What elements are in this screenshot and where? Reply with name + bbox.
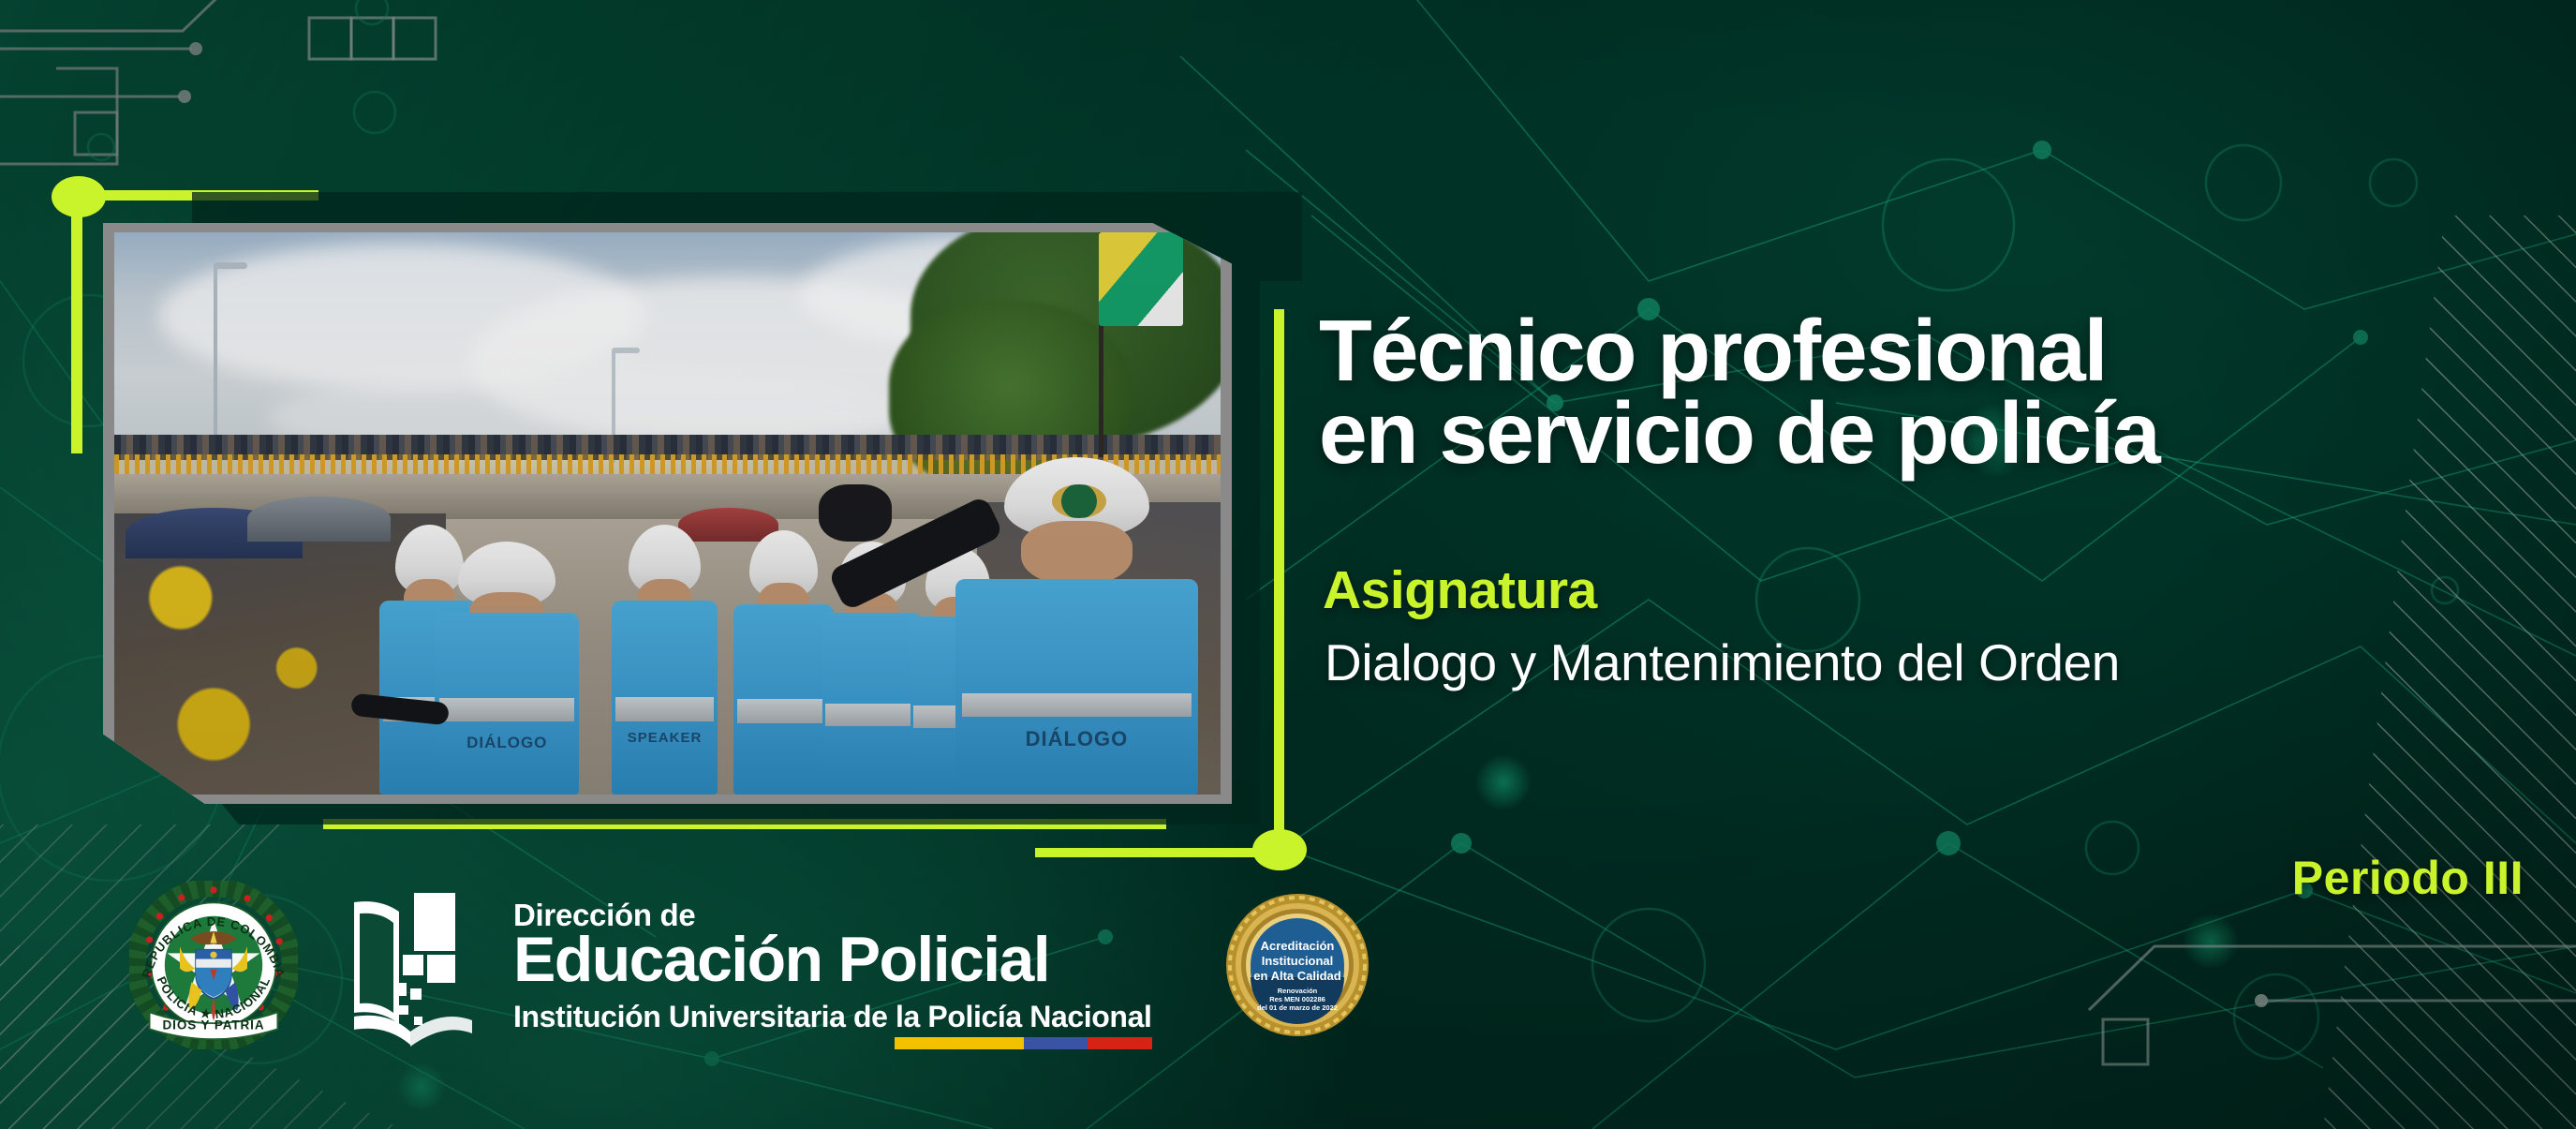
open-book-icon [347, 885, 496, 1049]
crest-ribbon-text: DIOS Y PATRIA [163, 1018, 265, 1032]
flag-stripe-blue [1024, 1037, 1088, 1049]
photo-shading [114, 232, 1221, 795]
page-title: Técnico profesional en servicio de polic… [1319, 309, 2537, 475]
asignatura-label: Asignatura [1323, 559, 1597, 621]
course-photo-image: SPEAKER [114, 232, 1221, 795]
flag-stripe-red [1088, 1037, 1152, 1049]
seal-line-1: Acreditación [1261, 939, 1335, 953]
title-line-1: Técnico profesional [1319, 309, 2537, 392]
course-photo: SPEAKER [103, 223, 1232, 804]
title-line-2: en servicio de policía [1319, 392, 2537, 474]
seal-line-3: en Alta Calidad [1253, 969, 1340, 983]
dep-line-2: Educación Policial [513, 928, 1049, 991]
seal-sub-3: del 01 de marzo de 2022 [1257, 1003, 1338, 1012]
colombia-police-crest-icon: REPUBLICA DE COLOMBIA POLICIA ★ NACIONAL… [129, 881, 298, 1049]
seal-line-2: Institucional [1262, 954, 1334, 968]
accreditation-seal-icon: Acreditación Institucional en Alta Calid… [1222, 888, 1372, 1043]
colombia-flag-icon [895, 1037, 1152, 1049]
dep-line-3: Institución Universitaria de la Policía … [513, 1000, 1151, 1034]
asignatura-value: Dialogo y Mantenimiento del Orden [1325, 632, 2120, 692]
direccion-educacion-policial-logo: Dirección de Educación Policial Instituc… [347, 885, 1227, 1049]
seal-sub-1: Renovación [1278, 987, 1318, 995]
periodo-badge: Periodo III [2292, 851, 2524, 905]
course-banner: SPEAKER [0, 0, 2576, 1129]
flag-stripe-yellow [895, 1037, 1024, 1049]
seal-sub-2: Res MEN 002286 [1269, 995, 1325, 1003]
